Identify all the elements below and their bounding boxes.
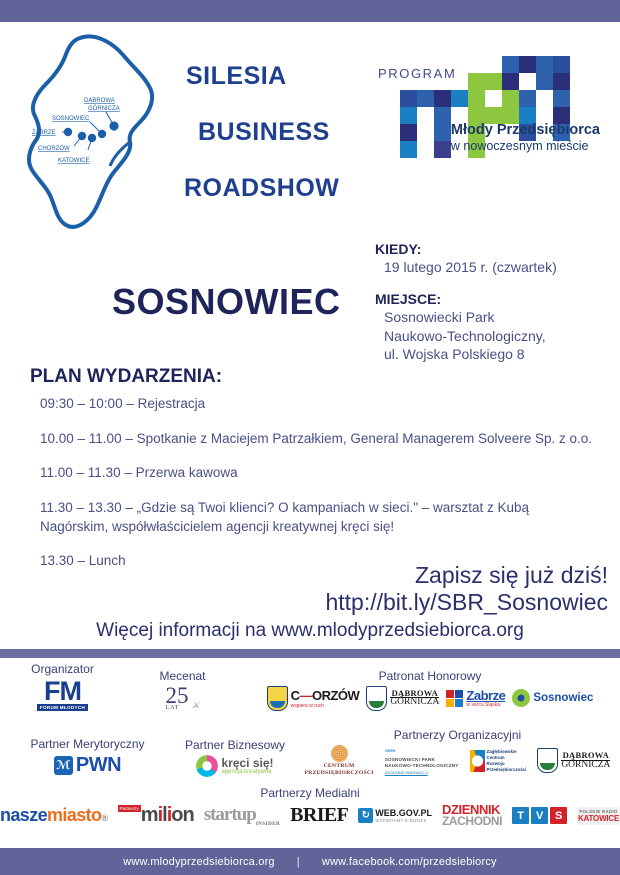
footer-url-facebook[interactable]: www.facebook.com/przedsiebiorcy	[322, 856, 497, 868]
group-label-organizator: Organizator	[0, 662, 125, 676]
brand-line-roadshow: ROADSHOW	[184, 176, 386, 201]
sponsor-group-medialni: Partnerzy Medialni naszemiasto® Partnerz…	[0, 786, 620, 828]
spnt-dots-icon: ••••	[385, 747, 459, 757]
group-label-patronat: Patronat Honorowy	[240, 669, 620, 683]
agenda-item: 10.00 – 11.00 – Spotkanie z Maciejem Pat…	[40, 430, 600, 449]
centrum-mark-icon	[331, 745, 348, 762]
logo-tvs: TVS	[512, 807, 567, 824]
map-label-sosnowiec: SOSNOWIEC	[52, 116, 90, 122]
where-block: MIEJSCE: Sosnowiecki Park Naukowo-Techno…	[375, 290, 615, 364]
map-label-dabrowa: DĄBROWA	[84, 98, 115, 104]
group-label-organizacyjni: Partnerzy Organizacyjni	[295, 728, 620, 742]
registration-link[interactable]: http://bit.ly/SBR_Sosnowiec	[325, 589, 608, 616]
when-label: KIEDY:	[375, 240, 615, 258]
section-divider	[0, 649, 620, 658]
logo-tagline-primary: Młody Przedsiębiorca	[451, 122, 600, 139]
poster: DĄBROWA GÓRNICZA SOSNOWIEC ZABRZE CHORZÓ…	[0, 0, 620, 875]
footer-bar: www.mlodyprzedsiebiorca.org | www.facebo…	[0, 848, 620, 875]
kreci-swirl-icon	[196, 755, 218, 777]
page-title: SOSNOWIEC	[112, 281, 341, 323]
logo-kreci-sie: kręci się!agencja kreatywna	[196, 755, 273, 777]
fm-letters: FM	[44, 679, 81, 704]
silesia-map: DĄBROWA GÓRNICZA SOSNOWIEC ZABRZE CHORZÓ…	[18, 30, 208, 235]
event-brand-title: SILESIA BUSINESS ROADSHOW	[186, 64, 386, 232]
where-line-1: Sosnowiecki Park	[375, 308, 615, 326]
sponsor-group-organizacyjni: Partnerzy Organizacyjni CENTRUMPRZEDSIĘB…	[295, 728, 620, 777]
logo-25-lat: 25LAT ⚔	[165, 686, 199, 711]
when-block: KIEDY: 19 lutego 2015 r. (czwartek)	[375, 240, 615, 277]
program-logo: PROGRAM Młody Przedsiębiorca w nowoczesn…	[374, 48, 600, 170]
logo-polskie-radio-katowice: POLSKIE RADIOKATOWICE	[577, 807, 620, 825]
brand-line-silesia: SILESIA	[186, 64, 386, 89]
top-accent-bar	[0, 0, 620, 22]
logo-naszemiasto: naszemiasto®	[0, 805, 108, 826]
footer-url-website[interactable]: www.mlodyprzedsiebiorca.org	[123, 856, 275, 868]
where-line-3: ul. Wojska Polskiego 8	[375, 345, 615, 363]
map-label-chorzow: CHORZÓW	[38, 145, 70, 152]
zabrze-blocks-icon	[446, 690, 463, 707]
logo-dziennik-zachodni: DZIENNIKZACHODNI	[442, 804, 502, 828]
group-label-merytoryczny: Partner Merytoryczny	[0, 737, 175, 751]
map-label-zabrze: ZABRZE	[32, 130, 56, 136]
agenda-item: 11.30 – 13.30 – „Gdzie są Twoi klienci? …	[40, 499, 600, 536]
sponsors-section: Organizator FM FORUM MŁODYCH Mecenat 25L…	[0, 658, 620, 848]
sosnowiec-sun-icon	[512, 689, 530, 707]
more-info-link[interactable]: Więcej informacji na www.mlodyprzedsiebi…	[0, 620, 620, 642]
dabrowa-crest-icon	[366, 686, 387, 711]
call-to-action: Zapisz się już dziś! http://bit.ly/SBR_S…	[325, 562, 608, 615]
agenda-title: PLAN WYDARZENIA:	[30, 366, 222, 388]
logo-zaglebiowskie-centrum: ZagłębiowskieCentrumRozwojuPrzedsiębiorc…	[470, 749, 527, 773]
logo-tagline-secondary: w nowoczesnym mieście	[451, 139, 600, 153]
chorzow-crest-icon	[267, 686, 288, 711]
map-label-dabrowa2: GÓRNICZA	[88, 105, 120, 112]
logo-forum-mlodych: FM FORUM MŁODYCH	[37, 679, 88, 711]
agenda-item: 09:30 – 10:00 – Rejestracja	[40, 395, 600, 414]
group-label-biznesowy: Partner Biznesowy	[175, 738, 295, 752]
logo-sosnowiec: Sosnowiec	[512, 689, 593, 707]
footer-separator: |	[297, 856, 300, 868]
group-label-medialni: Partnerzy Medialni	[0, 786, 620, 800]
sponsor-group-patronat: Patronat Honorowy C—ORZÓW wspiera w ruch…	[240, 669, 620, 711]
logo-startup: startupINSIDER	[204, 804, 280, 827]
logo-centrum-przedsiebiorczosci: CENTRUMPRZEDSIĘBIORCZOŚCI	[305, 745, 374, 777]
logo-brief: BRIEF	[290, 804, 348, 827]
map-label-katowice: KATOWICE	[58, 158, 89, 164]
lat-number: 25LAT	[165, 686, 188, 711]
logo-milion: Partnerzymilion	[118, 804, 194, 827]
logo-zabrze: Zabrzew sercu Śląska	[446, 689, 505, 708]
logo-sosnowiecki-park: •••• SOSNOWIECKI PARKNAUKOWO-TECHNOLOGIC…	[385, 747, 459, 775]
event-details: KIEDY: 19 lutego 2015 r. (czwartek) MIEJ…	[375, 240, 615, 377]
webgov-mark-icon: ↻	[358, 808, 373, 823]
group-label-mecenat: Mecenat	[125, 669, 240, 683]
pwn-wordmark: PWN	[76, 754, 121, 777]
dabrowa-crest-icon-2	[537, 748, 558, 773]
brand-line-business: BUSINESS	[198, 120, 386, 145]
agenda-item: 11.00 – 11.30 – Przerwa kawowa	[40, 464, 600, 483]
sponsor-group-mecenat: Mecenat 25LAT ⚔	[125, 669, 240, 711]
sponsor-group-biznesowy: Partner Biznesowy kręci się!agencja krea…	[175, 738, 295, 777]
program-label: PROGRAM	[378, 66, 456, 81]
logo-chorzow: C—ORZÓW wspiera w ruch	[267, 686, 360, 711]
pwn-mark-icon: ℳ	[54, 756, 73, 775]
fm-subtext: FORUM MŁODYCH	[37, 704, 88, 711]
lat-seal: ⚔	[191, 700, 199, 711]
agenda-list: 09:30 – 10:00 – Rejestracja 10.00 – 11.0…	[40, 395, 600, 587]
sponsor-group-organizator: Organizator FM FORUM MŁODYCH	[0, 662, 125, 711]
cta-headline: Zapisz się już dziś!	[325, 562, 608, 589]
where-line-2: Naukowo-Technologiczny,	[375, 327, 615, 345]
zcrp-arc-icon	[470, 750, 485, 772]
logo-dabrowa-gornicza: DĄBROWAGÓRNICZA	[366, 686, 439, 711]
when-value: 19 lutego 2015 r. (czwartek)	[375, 258, 615, 276]
where-label: MIEJSCE:	[375, 290, 615, 308]
logo-dabrowa-gornicza-org: DĄBROWAGÓRNICZA	[537, 748, 610, 773]
logo-webgov: ↻ WEB.GOV.PLWSPIERAMY E-BIZNES	[358, 808, 432, 823]
logo-pwn: ℳ PWN	[54, 754, 121, 777]
sponsor-group-merytoryczny: Partner Merytoryczny ℳ PWN	[0, 737, 175, 777]
